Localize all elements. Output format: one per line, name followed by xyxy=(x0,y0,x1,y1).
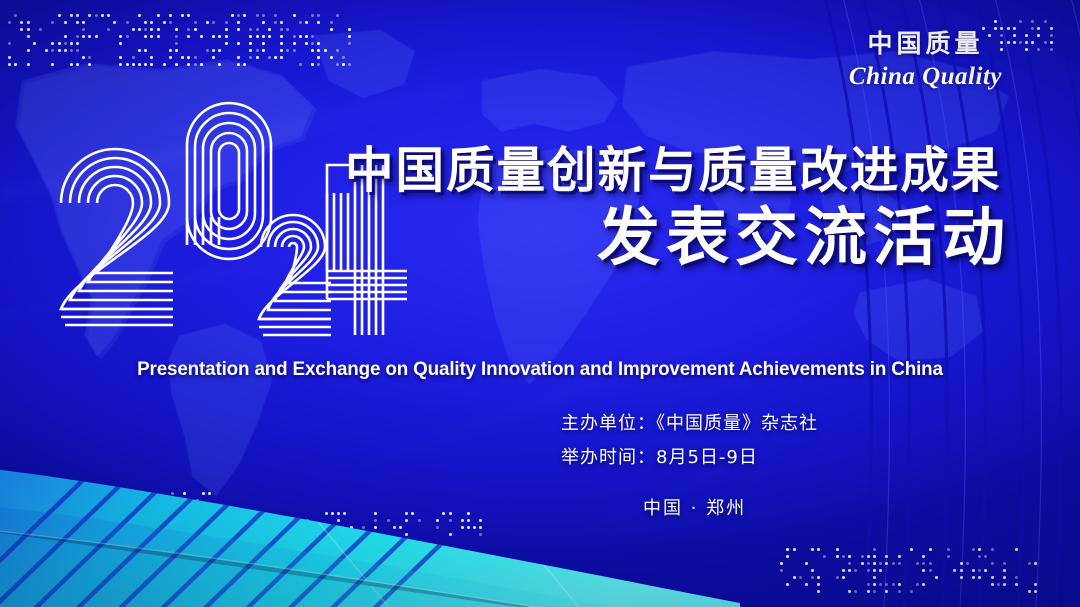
poster-subtitle-english: Presentation and Exchange on Quality Inn… xyxy=(19,358,1061,381)
conference-poster: 中国质量 China Quality 中国质量创新与质量改进成果 发表交流活动 … xyxy=(0,0,1080,607)
event-details: 主办单位：《中国质量》杂志社 举办时间：8月5日-9日 中国 · 郑州 xyxy=(0,407,1080,520)
brand-name-en: China Quality xyxy=(849,63,1002,91)
brand-name-cn: 中国质量 xyxy=(849,24,1002,60)
dot-matrix-bottom-right xyxy=(780,548,1040,597)
event-location: 中国 · 郑州 xyxy=(0,494,1080,520)
poster-title: 中国质量创新与质量改进成果 发表交流活动 xyxy=(345,146,1015,272)
title-line-1: 中国质量创新与质量改进成果 xyxy=(345,146,1008,196)
brand-logo: 中国质量 China Quality xyxy=(849,24,1002,91)
event-organizer: 主办单位：《中国质量》杂志社 xyxy=(0,407,1080,441)
event-date: 举办时间：8月5日-9日 xyxy=(0,441,1080,475)
title-line-2: 发表交流活动 xyxy=(345,204,1015,272)
